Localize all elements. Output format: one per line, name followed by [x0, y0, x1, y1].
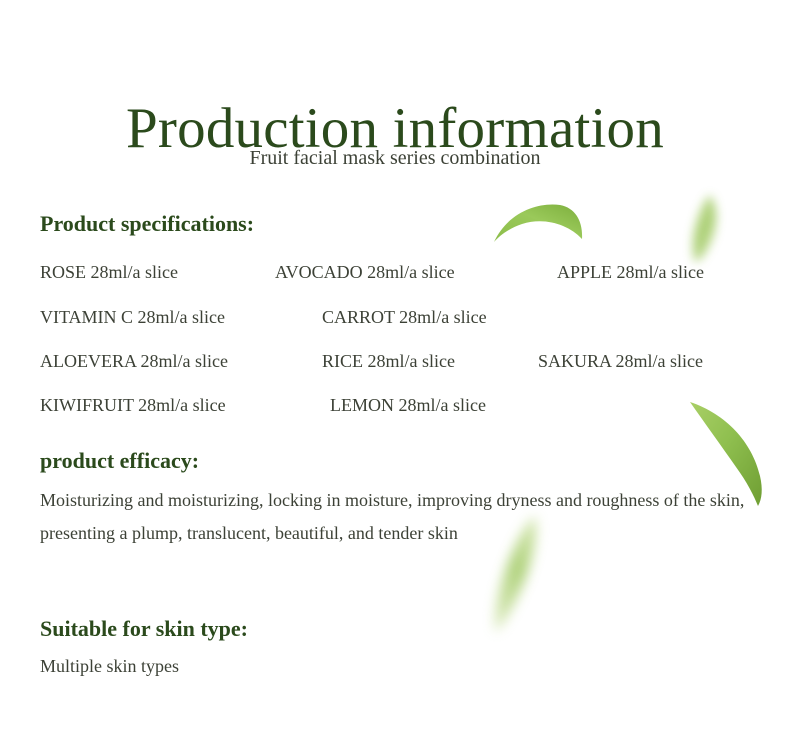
skin-type-body-text: Multiple skin types: [40, 654, 179, 678]
specifications-heading: Product specifications:: [40, 213, 254, 235]
specification-item: LEMON 28ml/a slice: [330, 394, 486, 416]
specification-item: VITAMIN C 28ml/a slice: [40, 306, 225, 328]
specifications-row: ROSE 28ml/a sliceAVOCADO 28ml/a sliceAPP…: [0, 261, 790, 283]
efficacy-body-text: Moisturizing and moisturizing, locking i…: [40, 484, 752, 550]
specification-item: SAKURA 28ml/a slice: [538, 350, 703, 372]
product-information-card: Production information Fruit facial mask…: [0, 0, 790, 738]
efficacy-heading: product efficacy:: [40, 450, 199, 472]
specification-item: ALOEVERA 28ml/a slice: [40, 350, 228, 372]
leaf-icon-arc-top: [492, 202, 584, 244]
specification-item: ROSE 28ml/a slice: [40, 261, 178, 283]
specifications-row: KIWIFRUIT 28ml/a sliceLEMON 28ml/a slice: [0, 394, 790, 416]
specifications-row: VITAMIN C 28ml/a sliceCARROT 28ml/a slic…: [0, 306, 790, 328]
specification-item: RICE 28ml/a slice: [322, 350, 455, 372]
specifications-row: ALOEVERA 28ml/a sliceRICE 28ml/a sliceSA…: [0, 350, 790, 372]
leaf-icon-blurred-top-right: [676, 192, 732, 264]
specification-item: APPLE 28ml/a slice: [557, 261, 704, 283]
specification-item: CARROT 28ml/a slice: [322, 306, 487, 328]
specification-item: AVOCADO 28ml/a slice: [275, 261, 455, 283]
page-subtitle: Fruit facial mask series combination: [0, 148, 790, 168]
specification-item: KIWIFRUIT 28ml/a slice: [40, 394, 226, 416]
skin-type-heading: Suitable for skin type:: [40, 618, 248, 640]
